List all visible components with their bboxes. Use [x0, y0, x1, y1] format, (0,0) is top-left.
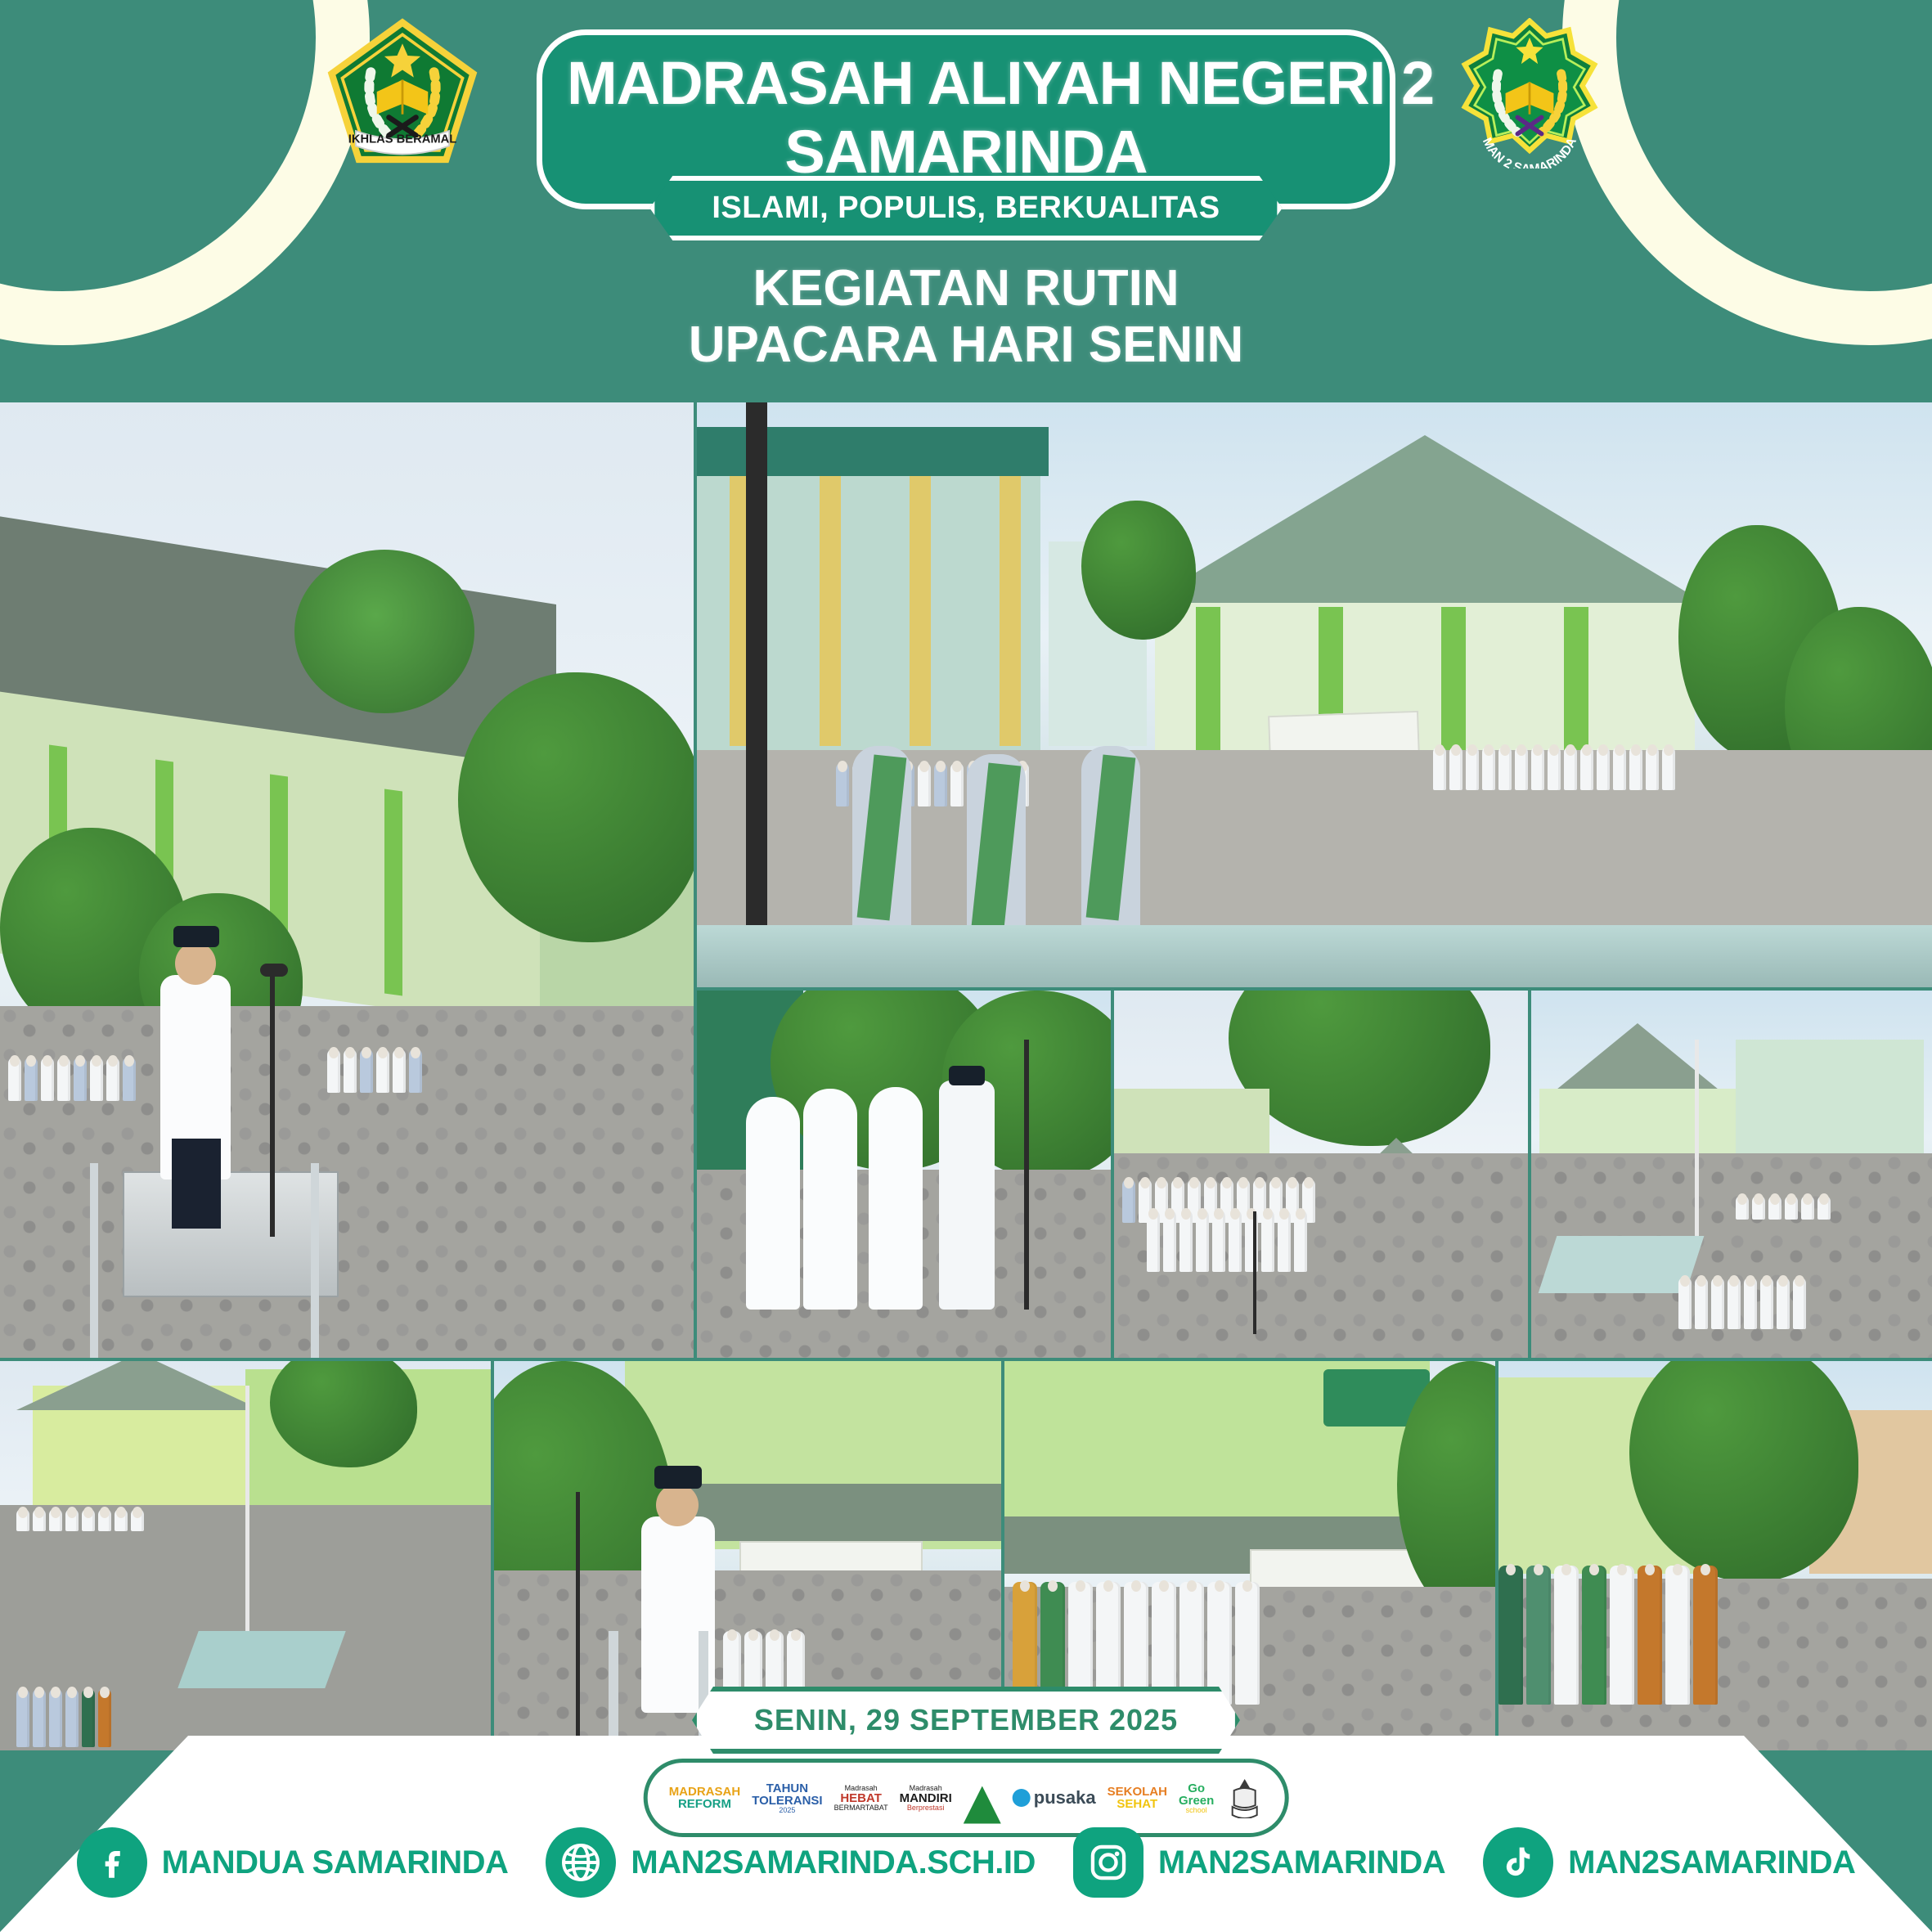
- instagram-handle[interactable]: MAN2SAMARINDA: [1158, 1844, 1445, 1881]
- collage-photo-9: [1498, 1361, 1932, 1750]
- event-title-line-2: UPACARA HARI SENIN: [0, 317, 1932, 373]
- poster-header: IKHLAS BERAMAL MAN 2 SAMARINDA M: [0, 0, 1932, 402]
- svg-text:IKHLAS BERAMAL: IKHLAS BERAMAL: [348, 133, 456, 146]
- tagline-badge-wrap: ISLAMI, POPULIS, BERKUALITAS: [649, 176, 1282, 240]
- kemenag-logo: IKHLAS BERAMAL: [327, 18, 478, 168]
- man2-samarinda-logo: MAN 2 SAMARINDA: [1454, 18, 1605, 168]
- tiktok-handle[interactable]: MAN2SAMARINDA: [1568, 1844, 1855, 1881]
- website-globe-icon[interactable]: [546, 1827, 616, 1898]
- collage-photo-4: [1114, 991, 1528, 1358]
- social-instagram[interactable]: MAN2SAMARINDA: [1073, 1827, 1445, 1898]
- website-handle[interactable]: MAN2SAMARINDA.SCH.ID: [631, 1844, 1035, 1881]
- collage-photo-3: [697, 991, 1111, 1358]
- collage-photo-2: [697, 402, 1932, 987]
- event-title: KEGIATAN RUTIN UPACARA HARI SENIN: [0, 260, 1932, 374]
- collage-photo-1: [0, 402, 694, 1358]
- tagline-badge: ISLAMI, POPULIS, BERKUALITAS: [649, 176, 1282, 240]
- social-facebook[interactable]: MANDUA SAMARINDA: [77, 1827, 509, 1898]
- school-name-line-2: SAMARINDA: [567, 122, 1365, 182]
- tiktok-icon[interactable]: [1483, 1827, 1553, 1898]
- social-links: MANDUA SAMARINDA MAN2SAMARINDA.SCH.ID: [0, 1793, 1932, 1932]
- instagram-icon[interactable]: [1073, 1827, 1143, 1898]
- social-tiktok[interactable]: MAN2SAMARINDA: [1483, 1827, 1855, 1898]
- poster-canvas: IKHLAS BERAMAL MAN 2 SAMARINDA M: [0, 0, 1932, 1932]
- facebook-handle[interactable]: MANDUA SAMARINDA: [162, 1844, 509, 1881]
- collage-photo-6: [0, 1361, 491, 1750]
- event-date-badge: SENIN, 29 SEPTEMBER 2025: [692, 1687, 1240, 1754]
- social-website[interactable]: MAN2SAMARINDA.SCH.ID: [546, 1827, 1035, 1898]
- photo-collage: [0, 402, 1932, 1750]
- collage-photo-5: [1531, 991, 1932, 1358]
- event-title-line-1: KEGIATAN RUTIN: [0, 260, 1932, 317]
- facebook-icon[interactable]: [77, 1827, 147, 1898]
- school-name-line-1: MADRASAH ALIYAH NEGERI 2: [567, 53, 1365, 114]
